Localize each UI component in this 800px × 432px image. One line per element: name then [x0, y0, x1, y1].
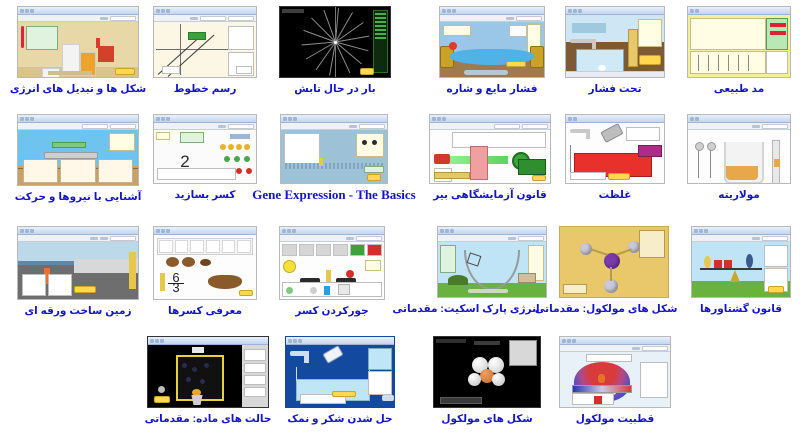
sim-caption-molecule-shapes: شکل های مولکول: [441, 413, 532, 425]
sim-caption-molecule-polarity: قطبیت مولکول: [576, 413, 655, 425]
sim-card-states-of-matter-basics[interactable]: حالت های ماده: مقدماتی: [144, 336, 272, 425]
sim-caption-balancing-act: قانون گشتاورها: [700, 303, 782, 315]
sim-thumbnail-sugar-and-salt-solutions[interactable]: [285, 336, 395, 408]
sim-caption-under-pressure: تحت فشار: [588, 83, 641, 95]
sim-card-graphing-lines[interactable]: رسم خطوط: [150, 6, 260, 95]
sim-thumbnail-molarity[interactable]: [687, 114, 791, 184]
sim-card-fraction-matcher[interactable]: جورکردن کسر: [276, 226, 388, 317]
sim-thumbnail-gene-expression-the-basics[interactable]: [280, 114, 388, 184]
thumbnail-grid-page: شکل ها و تبدیل های انرژی رسم خ: [0, 0, 800, 432]
sim-thumbnail-build-a-fraction[interactable]: 2: [153, 114, 257, 184]
sim-caption-fraction-matcher: جورکردن کسر: [295, 305, 368, 317]
sim-caption-graphing-lines: رسم خطوط: [174, 83, 237, 95]
sim-card-energy-skate-park-basics[interactable]: انرژی پارک اسکیت: مقدماتی: [434, 226, 550, 315]
sim-thumbnail-energy-skate-park-basics[interactable]: [437, 226, 547, 298]
sim-card-energy-forms-and-changes[interactable]: شکل ها و تبدیل های انرژی: [14, 6, 142, 95]
sim-caption-molecule-shapes-basics: شکل های مولکول: مقدماتی: [535, 303, 678, 315]
sim-thumbnail-fraction-matcher[interactable]: [279, 226, 385, 300]
sim-thumbnail-molecule-polarity[interactable]: [559, 336, 671, 408]
sim-caption-molarity: مولاریته: [718, 189, 760, 201]
sim-thumbnail-forces-and-motion-basics[interactable]: [17, 114, 139, 186]
sim-card-molecule-polarity[interactable]: قطبیت مولکول: [556, 336, 674, 425]
sim-thumbnail-states-of-matter-basics[interactable]: [147, 336, 269, 408]
sim-caption-beers-law-lab: قانون آزمایشگاهی بیر: [433, 189, 547, 201]
sim-card-molecule-shapes-basics[interactable]: شکل های مولکول: مقدماتی: [556, 226, 672, 315]
sim-card-sugar-and-salt-solutions[interactable]: حل شدن شکر و نمک: [282, 336, 398, 425]
sim-thumbnail-energy-forms-and-changes[interactable]: [17, 6, 139, 78]
sim-card-balancing-act[interactable]: قانون گشتاورها: [688, 226, 794, 315]
sim-thumbnail-beers-law-lab[interactable]: [429, 114, 551, 184]
sim-thumbnail-radiating-charge[interactable]: [279, 6, 391, 78]
sim-thumbnail-under-pressure[interactable]: [565, 6, 665, 78]
sim-card-plate-tectonics[interactable]: زمین ساخت ورقه ای: [14, 226, 142, 317]
sim-card-molarity[interactable]: مولاریته: [684, 114, 794, 201]
sim-thumbnail-balancing-act[interactable]: [691, 226, 791, 298]
sim-thumbnail-plate-tectonics[interactable]: [17, 226, 139, 300]
sim-caption-fractions-intro: معرفی کسرها: [168, 305, 242, 317]
sim-caption-normal-modes: مد طبیعی: [714, 83, 765, 95]
sim-card-build-a-fraction[interactable]: 2 کسر بسازید: [150, 114, 260, 201]
sim-thumbnail-graphing-lines[interactable]: [153, 6, 257, 78]
sim-card-fractions-intro[interactable]: 63 معرفی کسرها: [150, 226, 260, 317]
sim-caption-gene-expression-the-basics: Gene Expression - The Basics: [252, 189, 415, 201]
sim-card-under-pressure[interactable]: تحت فشار: [562, 6, 668, 95]
sim-caption-energy-skate-park-basics: انرژی پارک اسکیت: مقدماتی: [392, 303, 539, 315]
sim-card-radiating-charge[interactable]: بار در حال تابش: [276, 6, 394, 95]
sim-caption-radiating-charge: بار در حال تابش: [294, 83, 375, 95]
sim-thumbnail-concentration[interactable]: [565, 114, 665, 184]
sim-caption-fluid-pressure-and-flow: فشار مایع و شاره: [447, 83, 538, 95]
sim-card-gene-expression-the-basics[interactable]: Gene Expression - The Basics: [266, 114, 402, 201]
sim-thumbnail-normal-modes[interactable]: [687, 6, 791, 78]
sim-card-concentration[interactable]: غلظت: [562, 114, 668, 201]
sim-caption-sugar-and-salt-solutions: حل شدن شکر و نمک: [287, 413, 392, 425]
sim-caption-forces-and-motion-basics: آشنایی با نیروها و حرکت: [15, 191, 142, 203]
sim-caption-energy-forms-and-changes: شکل ها و تبدیل های انرژی: [10, 83, 146, 95]
sim-thumbnail-fluid-pressure-and-flow[interactable]: [439, 6, 545, 78]
sim-card-forces-and-motion-basics[interactable]: آشنایی با نیروها و حرکت: [14, 114, 142, 203]
sim-card-beers-law-lab[interactable]: قانون آزمایشگاهی بیر: [426, 114, 554, 201]
sim-caption-plate-tectonics: زمین ساخت ورقه ای: [24, 305, 131, 317]
sim-thumbnail-fractions-intro[interactable]: 63: [153, 226, 257, 300]
sim-card-fluid-pressure-and-flow[interactable]: فشار مایع و شاره: [436, 6, 548, 95]
sim-card-molecule-shapes[interactable]: شکل های مولکول: [430, 336, 544, 425]
sim-card-normal-modes[interactable]: مد طبیعی: [684, 6, 794, 95]
sim-caption-states-of-matter-basics: حالت های ماده: مقدماتی: [145, 413, 272, 425]
sim-caption-build-a-fraction: کسر بسازید: [175, 189, 236, 201]
sim-thumbnail-molecule-shapes[interactable]: [433, 336, 541, 408]
sim-caption-concentration: غلظت: [599, 189, 632, 201]
sim-thumbnail-molecule-shapes-basics[interactable]: [559, 226, 669, 298]
